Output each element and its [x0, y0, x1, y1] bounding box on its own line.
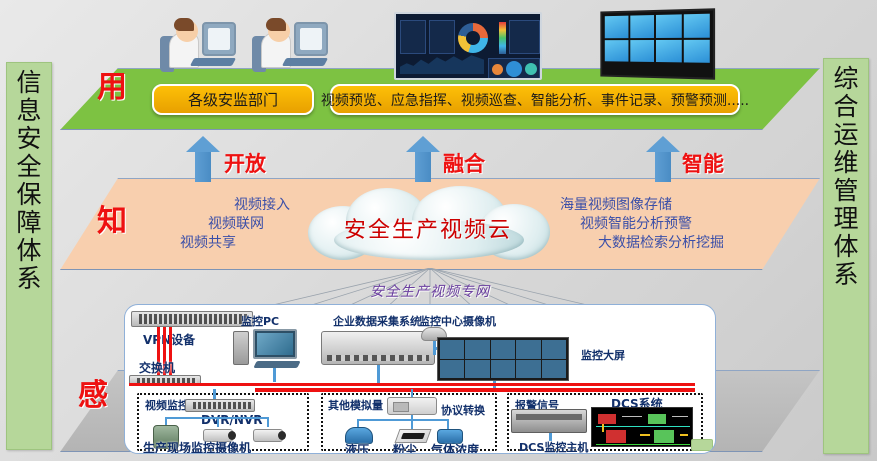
- gas-label: 气体浓度: [431, 441, 479, 454]
- data-collection-server-icon: [321, 331, 435, 365]
- operator-at-computer-icon: [158, 14, 236, 76]
- dvr-nvr-icon: [185, 399, 255, 412]
- sidebar-left-char-5: 障: [7, 209, 51, 237]
- sidebar-information-security: 信 息 安 全 保 障 体 系: [6, 62, 52, 450]
- control-room-wall-image: [437, 337, 569, 381]
- switch-label: 交换机: [139, 359, 175, 376]
- cloud-left-capabilities: 视频接入 视频联网 视频共享: [130, 196, 290, 253]
- video-wall-image: [600, 8, 715, 79]
- safety-supervision-dept-box[interactable]: 各级安监部门: [152, 84, 314, 115]
- bullet-camera-icon: [253, 429, 283, 442]
- up-arrow-icon: [646, 136, 680, 182]
- video-monitoring-label: 视频监控: [145, 397, 189, 413]
- sidebar-operations-management: 综 合 运 维 管 理 体 系: [823, 58, 869, 454]
- cloud-right-item-2: 大数据检索分析挖掘: [560, 234, 790, 253]
- sidebar-left-char-7: 系: [7, 265, 51, 293]
- protocol-label: 协议转换: [441, 402, 485, 418]
- diagram-canvas: 信 息 安 全 保 障 体 系 综 合 运 维 管 理 体 系 用 知 感: [0, 0, 877, 461]
- video-cloud-shape: 安全生产视频云: [290, 186, 566, 262]
- sidebar-right-char-0: 综: [824, 65, 868, 93]
- layer-tag-sensing: 感: [78, 370, 108, 414]
- hydraulic-label: 液压: [345, 441, 369, 454]
- sidebar-left-char-4: 保: [7, 181, 51, 209]
- sensing-layer-panel: VPN设备 交换机 监控PC 企业数据采集系统 监控中心摄像机 监控大屏: [124, 304, 716, 454]
- sidebar-left-char-6: 体: [7, 237, 51, 265]
- cloud-right-item-0: 海量视频图像存储: [560, 196, 790, 215]
- arrow-label-open: 开放: [224, 148, 266, 178]
- pc-tower-icon: [233, 331, 249, 365]
- arrow-label-fuse: 融合: [443, 148, 485, 178]
- sidebar-right-char-2: 运: [824, 121, 868, 149]
- arrow-label-smart: 智能: [682, 148, 724, 178]
- sidebar-left-char-0: 信: [7, 69, 51, 97]
- layer-tag-knowledge: 知: [97, 196, 127, 240]
- cloud-right-capabilities: 海量视频图像存储 视频智能分析预警 大数据检索分析挖掘: [560, 196, 790, 253]
- sidebar-left-char-3: 全: [7, 153, 51, 181]
- sidebar-right-char-7: 系: [824, 261, 868, 289]
- cloud-title: 安全生产视频云: [290, 212, 566, 244]
- layer-tag-application: 用: [97, 62, 127, 106]
- sidebar-right-char-4: 管: [824, 177, 868, 205]
- sidebar-right-char-6: 体: [824, 233, 868, 261]
- network-fan-lines: 安全生产视频专网: [240, 268, 620, 308]
- private-network-label: 安全生产视频专网: [240, 281, 620, 301]
- analytics-dashboard-image: [394, 12, 542, 80]
- sidebar-right-char-3: 维: [824, 149, 868, 177]
- protocol-converter-icon: [387, 397, 437, 415]
- pc-screen-icon: [253, 329, 297, 359]
- cloud-left-item-2: 视频共享: [130, 234, 290, 253]
- cloud-left-item-1: 视频联网: [130, 215, 290, 234]
- analog-label: 其他模拟量: [328, 397, 383, 413]
- application-functions-box[interactable]: 视频预览、应急指挥、视频巡查、智能分析、事件记录、预警预测.....: [330, 84, 740, 115]
- pc-keyboard-icon: [253, 361, 300, 368]
- data-collection-label: 企业数据采集系统: [333, 313, 421, 329]
- sidebar-right-char-1: 合: [824, 93, 868, 121]
- dcs-host-label: DCS监控主机: [519, 439, 588, 454]
- corner-badge: [691, 439, 713, 451]
- dvr-nvr-label: DVR/NVR: [201, 413, 262, 427]
- dust-label: 粉尘: [393, 441, 417, 454]
- cloud-right-item-1: 视频智能分析预警: [560, 215, 790, 234]
- vpn-device-icon: [131, 311, 253, 327]
- up-arrow-icon: [186, 136, 220, 182]
- sidebar-right-char-5: 理: [824, 205, 868, 233]
- monitor-pc-label: 监控PC: [241, 313, 279, 329]
- cloud-left-item-0: 视频接入: [130, 196, 290, 215]
- dcs-schematic-image: [591, 407, 693, 447]
- up-arrow-icon: [406, 136, 440, 182]
- sidebar-left-char-1: 息: [7, 97, 51, 125]
- site-camera-label: 生产现场监控摄像机: [143, 439, 251, 454]
- big-screen-label: 监控大屏: [581, 347, 625, 363]
- sidebar-left-char-2: 安: [7, 125, 51, 153]
- operator-at-computer-icon: [250, 14, 328, 76]
- dcs-host-icon: [511, 409, 587, 433]
